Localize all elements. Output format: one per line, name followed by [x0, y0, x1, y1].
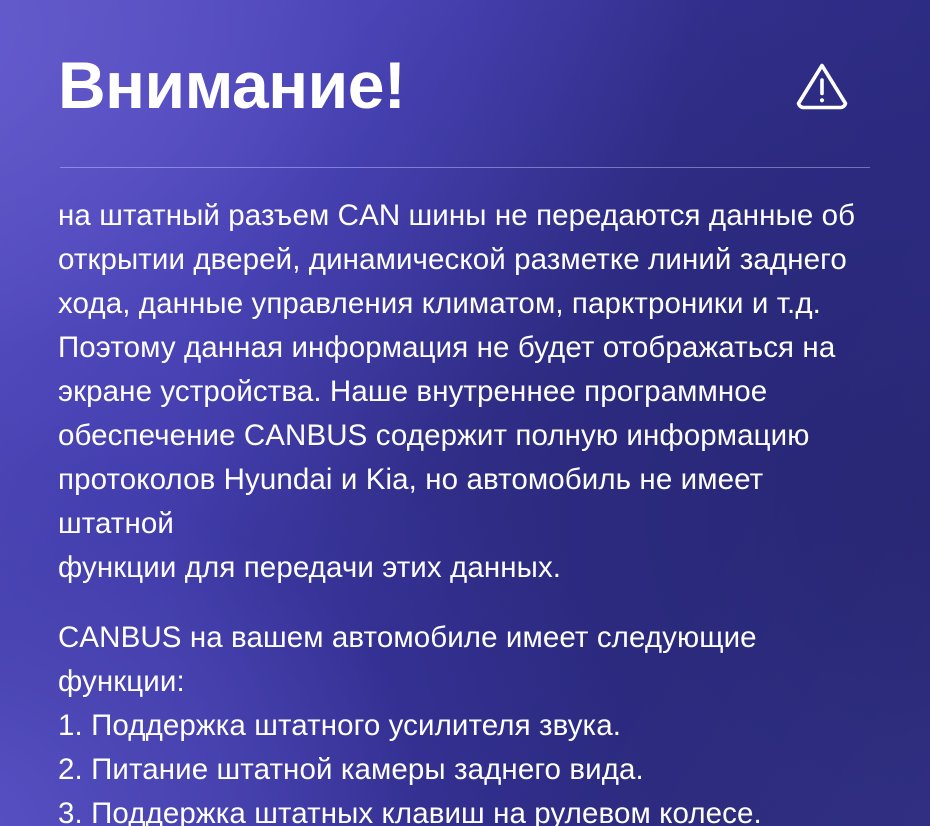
banner-header: Внимание! — [58, 0, 872, 138]
warning-triangle-icon — [794, 60, 850, 112]
paragraph-line: экране устройства. Наше внутреннее прогр… — [58, 370, 872, 414]
features-intro: CANBUS на вашем автомобиле имеет следующ… — [58, 616, 872, 704]
paragraph-limitations: на штатный разъем CAN шины не передаются… — [58, 194, 872, 590]
page-title: Внимание! — [58, 52, 405, 119]
paragraph-line: обеспечение CANBUS содержит полную инфор… — [58, 414, 872, 458]
paragraph-line: Поэтому данная информация не будет отобр… — [58, 326, 872, 370]
paragraph-line: открытии дверей, динамической разметке л… — [58, 238, 872, 282]
paragraph-features: CANBUS на вашем автомобиле имеет следующ… — [58, 616, 872, 826]
list-item: 1. Поддержка штатного усилителя звука. — [58, 704, 872, 748]
warning-banner: Внимание! на штатный разъем CAN шины не … — [0, 0, 930, 826]
paragraph-line: функции для передачи этих данных. — [58, 546, 872, 590]
paragraph-line: хода, данные управления климатом, парктр… — [58, 282, 872, 326]
list-item: 2. Питание штатной камеры заднего вида. — [58, 748, 872, 792]
list-item: 3. Поддержка штатных клавиш на рулевом к… — [58, 792, 872, 826]
paragraph-line: протоколов Hyundai и Kia, но автомобиль … — [58, 458, 872, 546]
features-list: 1. Поддержка штатного усилителя звука. 2… — [58, 704, 872, 826]
banner-content: Внимание! на штатный разъем CAN шины не … — [0, 0, 930, 826]
banner-body: на штатный разъем CAN шины не передаются… — [58, 168, 872, 826]
paragraph-line: на штатный разъем CAN шины не передаются… — [58, 194, 872, 238]
